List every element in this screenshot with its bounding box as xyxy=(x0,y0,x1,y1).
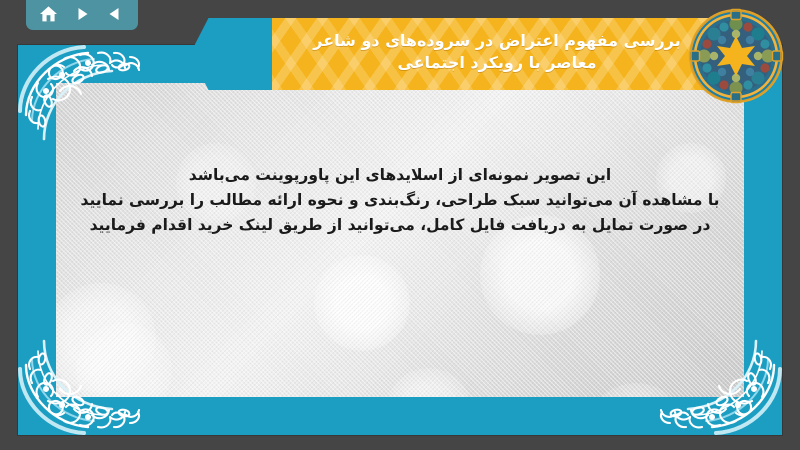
body-line-2: با مشاهده آن می‌توانید سبک طراحی، رنگ‌بن… xyxy=(74,188,726,213)
body-line-3: در صورت تمایل به دریافت فایل کامل، می‌تو… xyxy=(74,213,726,238)
navigation-bar xyxy=(26,0,138,30)
slide-canvas: این تصویر نمونه‌ای از اسلایدهای این پاور… xyxy=(56,83,744,397)
home-button[interactable] xyxy=(36,2,62,26)
left-triangle-icon xyxy=(107,6,123,22)
home-icon xyxy=(39,5,58,23)
bokeh-circle xyxy=(76,323,172,397)
forward-button[interactable] xyxy=(69,2,95,26)
slide-viewer: این تصویر نمونه‌ای از اسلایدهای این پاور… xyxy=(0,0,800,450)
body-line-1: این تصویر نمونه‌ای از اسلایدهای این پاور… xyxy=(74,163,726,188)
back-button[interactable] xyxy=(102,2,128,26)
bokeh-circle xyxy=(56,283,156,393)
bokeh-circle xyxy=(386,368,472,397)
right-triangle-icon xyxy=(74,6,90,22)
presentation-slide: این تصویر نمونه‌ای از اسلایدهای این پاور… xyxy=(18,45,782,435)
slide-body-text: این تصویر نمونه‌ای از اسلایدهای این پاور… xyxy=(56,163,744,238)
bokeh-circle xyxy=(586,383,686,397)
bokeh-circle xyxy=(314,255,410,351)
